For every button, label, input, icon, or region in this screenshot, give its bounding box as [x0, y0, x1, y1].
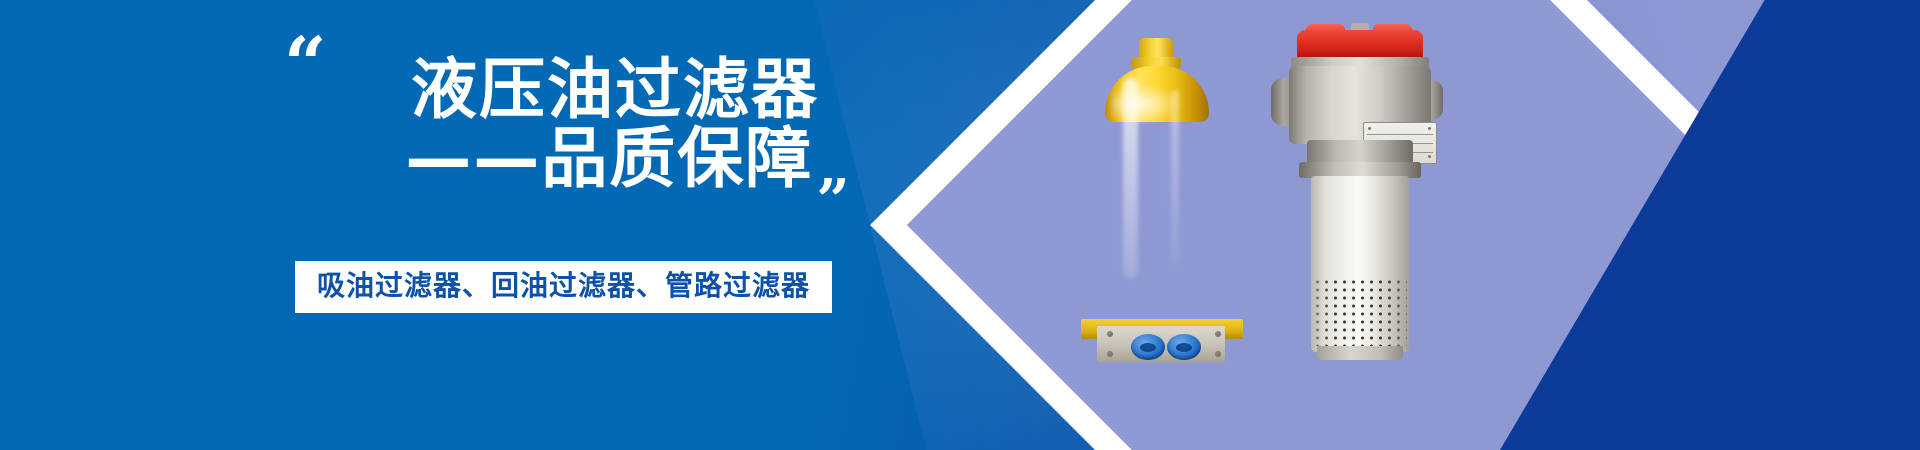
nameplate-screw-icon — [1428, 127, 1431, 130]
blue-port-icon — [1167, 334, 1201, 360]
mount-bolt-icon — [1107, 331, 1113, 337]
mount-bolt-icon — [1215, 351, 1221, 357]
yellow-hydraulic-filter-icon — [1075, 38, 1255, 344]
nameplate-screw-icon — [1428, 155, 1431, 158]
headline-line-1: 液压油过滤器 — [282, 56, 902, 125]
page-title: 液压油过滤器 ——品质保障„ — [282, 56, 902, 196]
promo-banner: “ 液压油过滤器 ——品质保障„ 吸油过滤器、回油过滤器、管路过滤器 — [0, 0, 1920, 450]
grey-return-line-filter-icon — [1255, 30, 1465, 360]
headline-block: “ 液压油过滤器 ——品质保障„ 吸油过滤器、回油过滤器、管路过滤器 — [282, 18, 902, 338]
nameplate-screw-icon — [1368, 127, 1371, 130]
yellow-filter-highlight-primary — [1123, 78, 1138, 278]
blue-port-icon — [1131, 334, 1165, 360]
yellow-filter-body — [1105, 116, 1209, 298]
headline-line-2: ——品质保障 — [405, 120, 813, 197]
quote-close-icon: „ — [817, 138, 848, 196]
mount-bolt-icon — [1107, 351, 1113, 357]
subtitle-badge: 吸油过滤器、回油过滤器、管路过滤器 — [295, 261, 832, 313]
mount-bolt-icon — [1215, 331, 1221, 337]
subtitle-text: 吸油过滤器、回油过滤器、管路过滤器 — [317, 269, 810, 302]
headline-line-2-row: ——品质保障„ — [282, 125, 902, 196]
nameplate-rule — [1367, 134, 1433, 135]
yellow-filter-highlight-secondary — [1171, 90, 1179, 265]
blue-port-bore — [1140, 343, 1156, 352]
red-cap — [1297, 30, 1423, 60]
blue-port-bore — [1176, 343, 1192, 352]
filter-head-housing — [1289, 66, 1431, 144]
perforation-pattern — [1313, 278, 1407, 346]
filter-end-cap — [1317, 346, 1403, 360]
